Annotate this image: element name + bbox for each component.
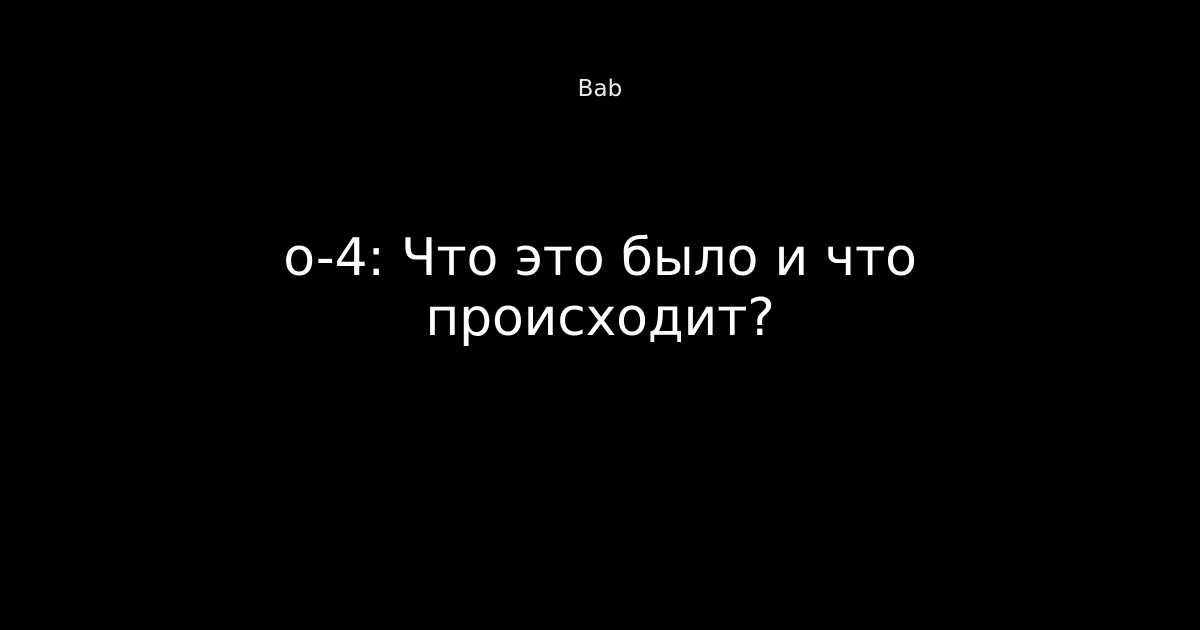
site-name-label: Bab	[0, 74, 1200, 104]
social-preview-card: Bab o-4: Что это было и что происходит?	[0, 0, 1200, 630]
headline-container: o-4: Что это было и что происходит?	[0, 228, 1200, 348]
page-title: o-4: Что это было и что происходит?	[270, 228, 930, 348]
